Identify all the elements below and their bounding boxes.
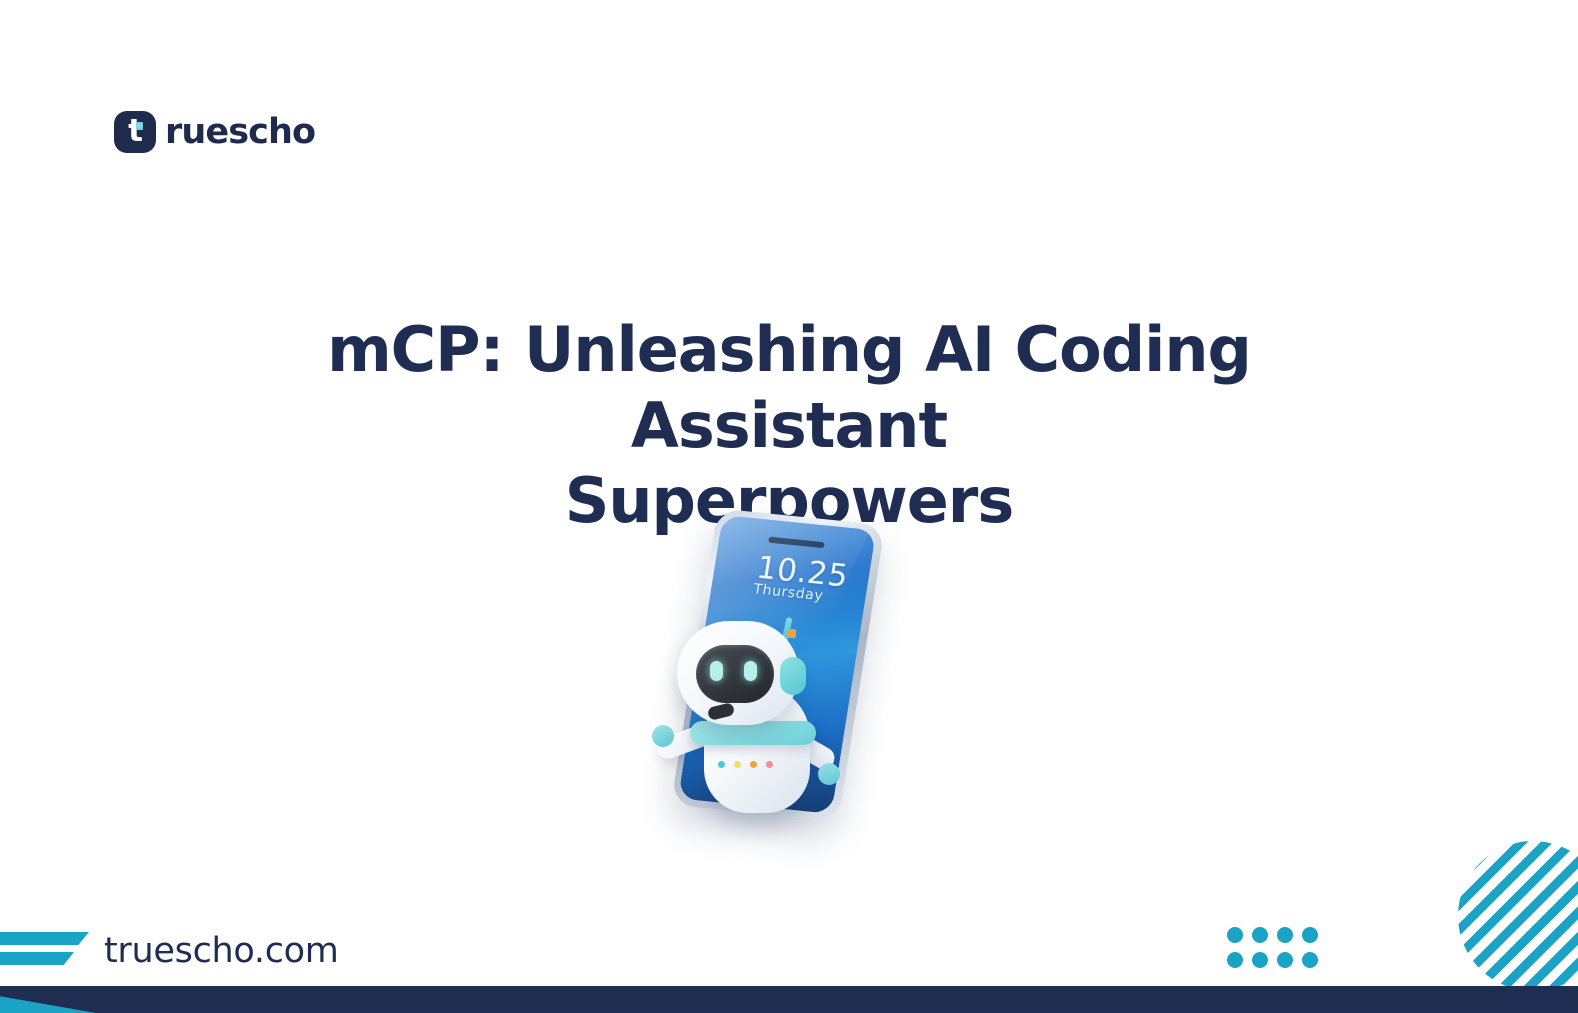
- robot-status-dots: [718, 761, 773, 768]
- grid-dot: [1252, 927, 1268, 943]
- title-line-1: mCP: Unleashing AI Coding Assistant: [159, 312, 1419, 463]
- grid-dot: [1302, 927, 1318, 943]
- robot-face-visor: [696, 645, 774, 703]
- footer-cyan-wedge: [0, 986, 96, 1013]
- logo-wordmark: ruescho: [165, 115, 315, 150]
- screen-clock-day: Thursday: [752, 582, 824, 603]
- grid-dot: [1277, 927, 1293, 943]
- robot-dot-3: [750, 761, 757, 768]
- logo-mark-icon: t: [114, 111, 156, 153]
- robot-eye-right: [744, 661, 757, 681]
- brand-logo[interactable]: t ruescho: [114, 111, 315, 153]
- robot-antenna-tip: [788, 629, 796, 638]
- slide-canvas: t ruescho mCP: Unleashing AI Coding Assi…: [0, 0, 1578, 1013]
- footer-domain-text: truescho.com: [104, 930, 339, 972]
- footer-bar-bottom: [0, 952, 74, 965]
- grid-dot: [1277, 952, 1293, 968]
- robot-eye-left: [710, 661, 723, 681]
- robot-right-hand: [818, 763, 840, 785]
- grid-dot: [1302, 952, 1318, 968]
- decor-striped-circle: [1458, 841, 1578, 991]
- grid-dot: [1227, 927, 1243, 943]
- screen-clock-time: 10.25: [754, 553, 850, 593]
- robot-dot-2: [734, 761, 741, 768]
- decor-dot-grid: [1227, 927, 1327, 977]
- footer-navy-band: [0, 986, 1578, 1013]
- logo-accent-shape: [136, 122, 143, 130]
- robot-headphone-icon: [780, 657, 806, 695]
- hero-illustration: 10.25 Thursday: [642, 505, 942, 835]
- footer-accent-bars: [0, 932, 92, 974]
- phone-speaker-notch: [768, 537, 825, 549]
- grid-dot: [1227, 952, 1243, 968]
- robot-mascot-graphic: [652, 613, 842, 828]
- logo-letter-t: t: [114, 111, 156, 153]
- robot-dot-1: [718, 761, 725, 768]
- robot-left-hand: [652, 725, 674, 747]
- footer-bar-top: [0, 932, 89, 945]
- grid-dot: [1252, 952, 1268, 968]
- robot-dot-4: [766, 761, 773, 768]
